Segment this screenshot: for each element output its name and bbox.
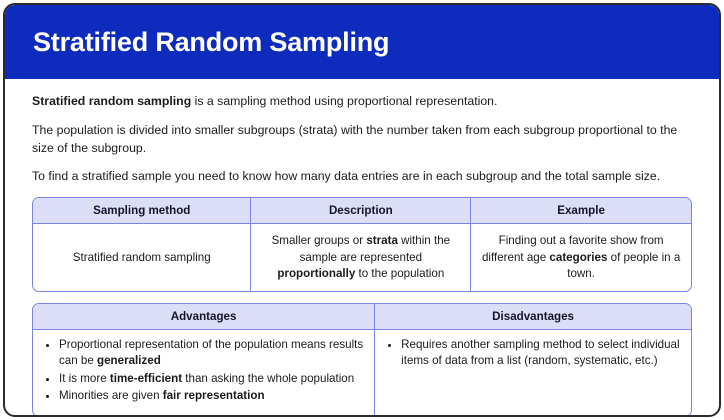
- intro-rest: is a sampling method using proportional …: [191, 94, 497, 108]
- th-disadvantages: Disadvantages: [375, 304, 691, 330]
- main-content: Stratified random sampling is a sampling…: [5, 79, 719, 417]
- adv-2-text-2: than asking the whole population: [182, 372, 354, 385]
- example-bold-categories: categories: [549, 251, 607, 264]
- prosecons-table-body: Proportional representation of the popul…: [33, 330, 691, 416]
- table-row: Stratified random sampling Smaller group…: [33, 224, 691, 291]
- list-item: Requires another sampling method to sele…: [401, 337, 681, 370]
- th-description: Description: [251, 198, 471, 224]
- intro-paragraph-2: The population is divided into smaller s…: [32, 122, 692, 158]
- list-item: It is more time-efficient than asking th…: [59, 371, 364, 387]
- page-header-banner: Stratified Random Sampling: [5, 5, 719, 79]
- desc-bold-strata: strata: [366, 234, 398, 247]
- page-title: Stratified Random Sampling: [33, 27, 389, 58]
- adv-2-bold: time-efficient: [110, 372, 182, 385]
- list-item: Minorities are given fair representation: [59, 388, 364, 404]
- sampling-method-table-body: Stratified random sampling Smaller group…: [33, 224, 691, 291]
- adv-2-text-1: It is more: [59, 372, 110, 385]
- table-header-row: Advantages Disadvantages: [33, 304, 691, 330]
- cell-advantages: Proportional representation of the popul…: [33, 330, 375, 416]
- th-advantages: Advantages: [33, 304, 375, 330]
- table-row: Proportional representation of the popul…: [33, 330, 691, 416]
- adv-3-bold: fair representation: [163, 389, 265, 402]
- advantages-disadvantages-table: Advantages Disadvantages Proportional re…: [32, 303, 692, 417]
- sampling-method-table: Sampling method Description Example Stra…: [32, 197, 692, 292]
- cell-disadvantages: Requires another sampling method to sele…: [375, 330, 691, 416]
- desc-bold-proportionally: proportionally: [277, 267, 355, 280]
- sampling-method-table-head: Sampling method Description Example: [33, 198, 691, 224]
- page-frame: Stratified Random Sampling Stratified ra…: [3, 3, 721, 417]
- intro-lead-bold: Stratified random sampling: [32, 94, 191, 108]
- intro-paragraph-3: To find a stratified sample you need to …: [32, 168, 692, 186]
- prosecons-table-head: Advantages Disadvantages: [33, 304, 691, 330]
- adv-1-bold: generalized: [97, 354, 161, 367]
- desc-text-3: to the population: [355, 267, 444, 280]
- cell-example: Finding out a favorite show from differe…: [471, 224, 691, 291]
- cell-method: Stratified random sampling: [33, 224, 251, 291]
- intro-paragraph-1: Stratified random sampling is a sampling…: [32, 93, 692, 111]
- advantages-list: Proportional representation of the popul…: [43, 337, 364, 405]
- list-item: Proportional representation of the popul…: [59, 337, 364, 370]
- th-sampling-method: Sampling method: [33, 198, 251, 224]
- dis-1-text-1: Requires another sampling method to sele…: [401, 338, 679, 367]
- disadvantages-list: Requires another sampling method to sele…: [385, 337, 681, 370]
- desc-text-1: Smaller groups or: [272, 234, 367, 247]
- table-header-row: Sampling method Description Example: [33, 198, 691, 224]
- cell-description: Smaller groups or strata within the samp…: [251, 224, 471, 291]
- adv-3-text-1: Minorities are given: [59, 389, 163, 402]
- th-example: Example: [471, 198, 691, 224]
